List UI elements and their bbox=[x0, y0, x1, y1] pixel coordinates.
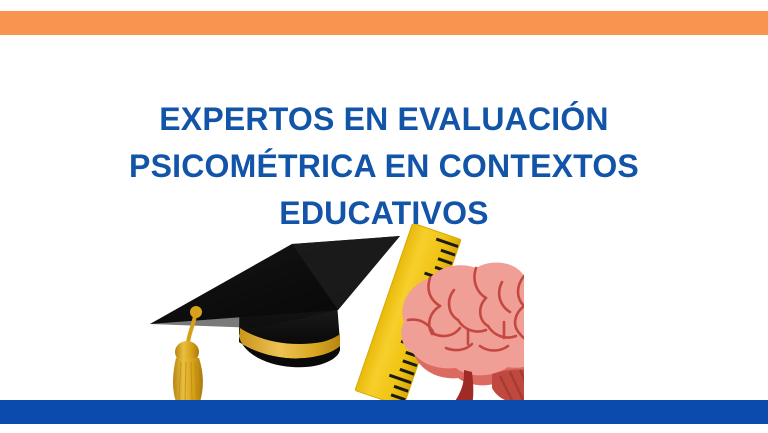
education-psychometrics-illustration bbox=[140, 224, 524, 404]
brain-icon bbox=[401, 262, 524, 404]
page-title: EXPERTOS EN EVALUACIÓN PSICOMÉTRICA EN C… bbox=[0, 96, 768, 237]
bottom-accent-bar bbox=[0, 400, 768, 424]
page-title-line-2: PSICOMÉTRICA EN CONTEXTOS bbox=[0, 143, 768, 190]
slide-canvas: EXPERTOS EN EVALUACIÓN PSICOMÉTRICA EN C… bbox=[0, 0, 768, 433]
page-title-line-1: EXPERTOS EN EVALUACIÓN bbox=[0, 96, 768, 143]
top-accent-bar bbox=[0, 11, 768, 35]
